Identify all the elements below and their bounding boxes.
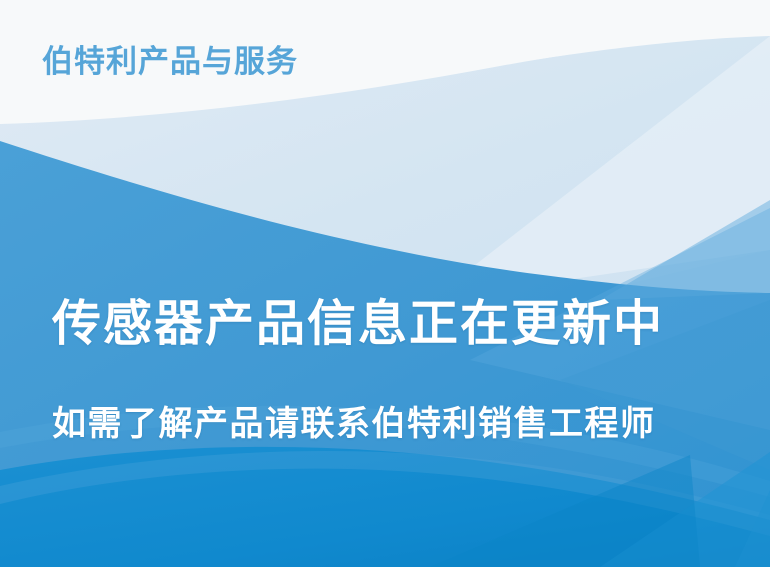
banner-content: 伯特利产品与服务 传感器产品信息正在更新中 如需了解产品请联系伯特利销售工程师 [0, 0, 770, 567]
product-service-banner: 伯特利产品与服务 传感器产品信息正在更新中 如需了解产品请联系伯特利销售工程师 [0, 0, 770, 567]
subheadline-text: 如需了解产品请联系伯特利销售工程师 [52, 405, 656, 444]
brand-title: 伯特利产品与服务 [42, 44, 298, 81]
headline-text: 传感器产品信息正在更新中 [52, 296, 664, 352]
